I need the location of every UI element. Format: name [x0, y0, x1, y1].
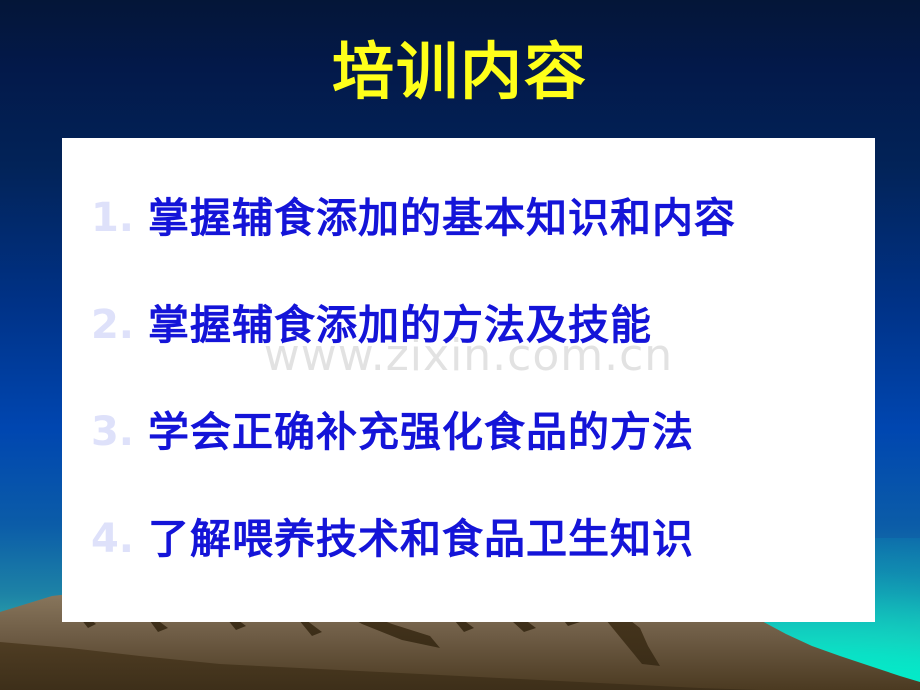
list-item[interactable]: 2. 掌握辅食添加的方法及技能 — [62, 271, 875, 378]
list-item-number: 2. — [62, 305, 148, 345]
list-item[interactable]: 4. 了解喂养技术和食品卫生知识 — [62, 485, 875, 592]
list-item-number: 1. — [62, 198, 148, 238]
list-item-label: 掌握辅食添加的方法及技能 — [148, 301, 652, 349]
list-item-number: 3. — [62, 412, 148, 452]
list-item-label: 掌握辅食添加的基本知识和内容 — [148, 194, 736, 242]
list-item-label: 了解喂养技术和食品卫生知识 — [148, 515, 694, 563]
content-panel: www.zixin.com.cn 1. 掌握辅食添加的基本知识和内容 2. 掌握… — [62, 138, 875, 622]
presentation-slide: 培训内容 www.zixin.com.cn 1. 掌握辅食添加的基本知识和内容 … — [0, 0, 920, 690]
training-content-list: 1. 掌握辅食添加的基本知识和内容 2. 掌握辅食添加的方法及技能 3. 学会正… — [62, 138, 875, 622]
list-item-number: 4. — [62, 519, 148, 559]
slide-title: 培训内容 — [0, 34, 920, 110]
list-item[interactable]: 1. 掌握辅食添加的基本知识和内容 — [62, 164, 875, 271]
list-item[interactable]: 3. 学会正确补充强化食品的方法 — [62, 378, 875, 485]
list-item-label: 学会正确补充强化食品的方法 — [148, 408, 694, 456]
